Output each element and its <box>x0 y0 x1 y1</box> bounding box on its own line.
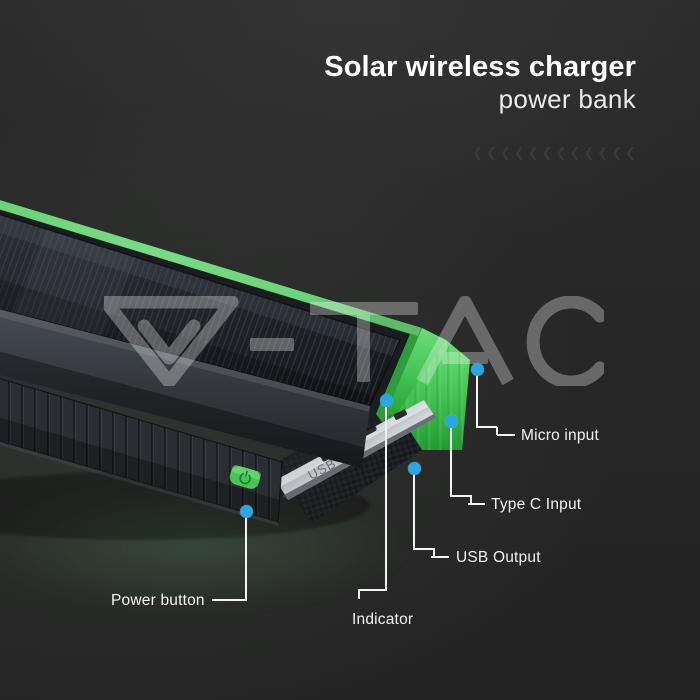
chevron-left-icon: ❮ <box>528 147 539 160</box>
leader-line-power-horizontal <box>212 599 247 601</box>
leader-line-micro-input-horizontal <box>476 426 497 428</box>
leader-line-micro-input-elbow <box>496 427 498 435</box>
chevron-left-icon: ❮ <box>500 147 511 160</box>
leader-line-type-c-horizontal <box>450 495 472 497</box>
leader-line-micro-input-vertical <box>476 375 478 428</box>
leader-line-indicator-elbow <box>358 589 360 599</box>
chevron-left-icon: ❮ <box>486 147 497 160</box>
chevron-left-icon: ❮ <box>597 147 608 160</box>
product-photo: USB <box>0 150 570 570</box>
chevron-left-icon: ❮ <box>472 147 483 160</box>
leader-line-type-c-dash <box>468 503 485 505</box>
product-illustration: USB <box>0 150 570 570</box>
chevron-strip: ❮❮❮❮❮❮❮❮❮❮❮❮ <box>472 147 636 160</box>
chevron-left-icon: ❮ <box>556 147 567 160</box>
leader-line-usb-vertical <box>413 474 415 548</box>
leader-line-indicator-vertical <box>385 406 387 590</box>
leader-line-usb-horizontal <box>413 548 435 550</box>
callout-dot-micro-input[interactable] <box>471 363 484 376</box>
chevron-left-icon: ❮ <box>514 147 525 160</box>
leader-line-usb-dash <box>431 556 449 558</box>
product-infographic-canvas: USB <box>0 0 700 700</box>
callout-label-power-button: Power button <box>111 592 205 610</box>
leader-line-power-vertical <box>245 517 247 600</box>
callout-label-usb-output: USB Output <box>456 549 541 567</box>
chevron-left-icon: ❮ <box>625 147 636 160</box>
chevron-left-icon: ❮ <box>542 147 553 160</box>
leader-line-micro-input-dash <box>497 434 515 436</box>
callout-dot-usb-output[interactable] <box>408 462 421 475</box>
callout-dot-indicator[interactable] <box>380 394 393 407</box>
headline-primary: Solar wireless charger <box>324 52 636 83</box>
chevron-left-icon: ❮ <box>583 147 594 160</box>
callout-label-indicator: Indicator <box>352 611 413 629</box>
headline-block: Solar wireless charger power bank <box>324 52 636 114</box>
callout-label-type-c-input: Type C Input <box>491 496 581 514</box>
callout-dot-power-button[interactable] <box>240 505 253 518</box>
chevron-left-icon: ❮ <box>611 147 622 160</box>
callout-dot-type-c-input[interactable] <box>445 415 458 428</box>
chevron-left-icon: ❮ <box>569 147 580 160</box>
leader-line-type-c-vertical <box>450 427 452 495</box>
headline-secondary: power bank <box>324 85 636 114</box>
callout-label-micro-input: Micro input <box>521 427 599 445</box>
leader-line-indicator-horizontal <box>358 589 387 591</box>
